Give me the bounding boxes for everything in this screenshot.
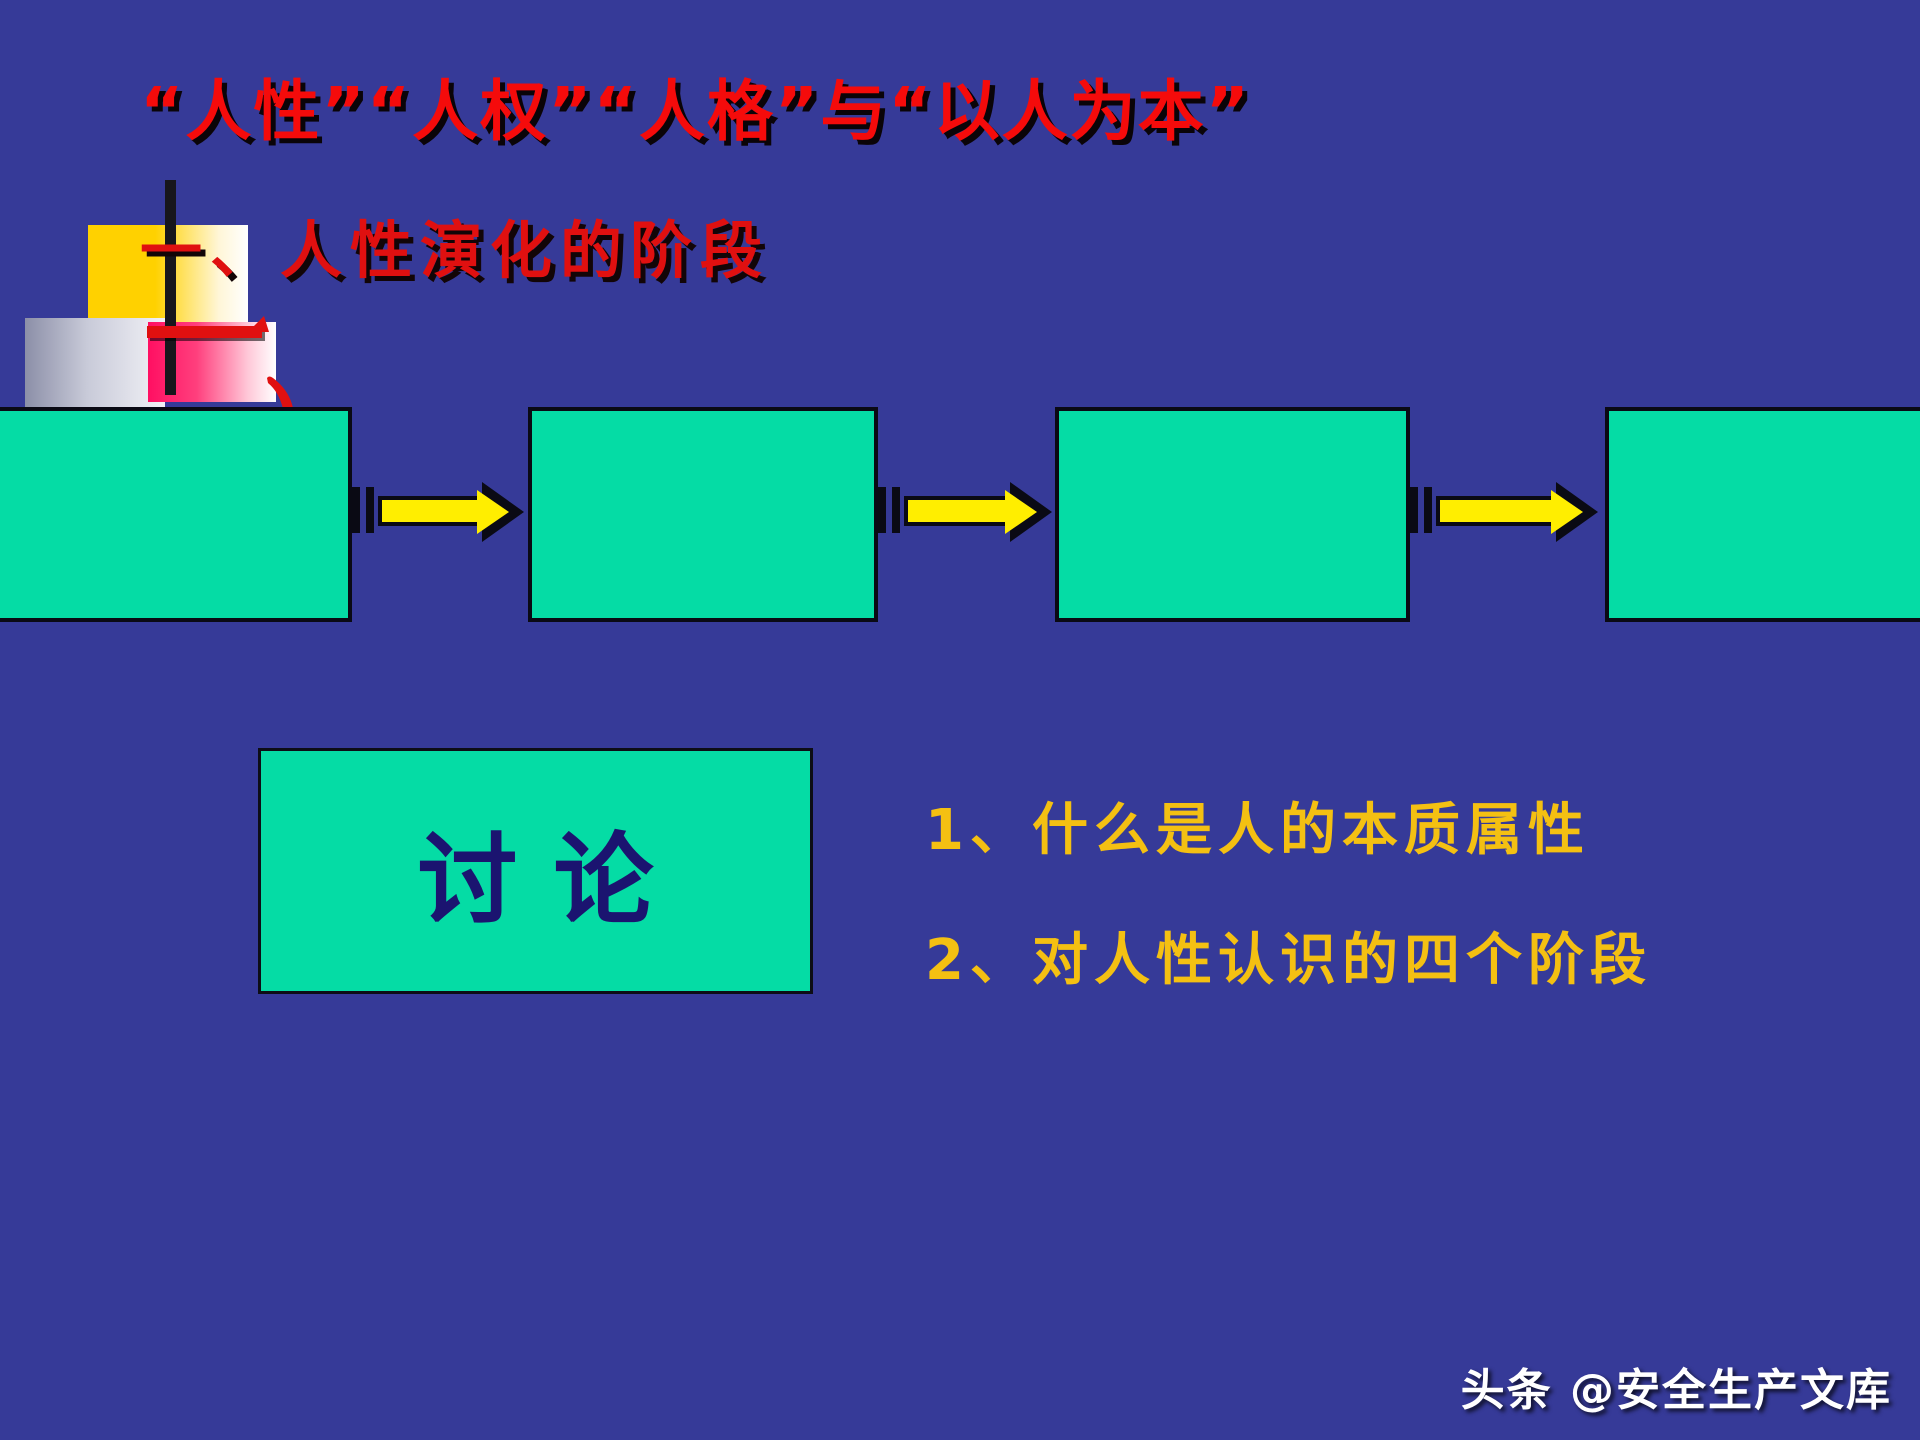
- arrow-tick-a1: [352, 487, 360, 533]
- discussion-label: 讨论: [382, 799, 690, 944]
- question-item-1: 1、什么是人的本质属性: [925, 785, 1590, 866]
- flow-box-2[interactable]: [528, 407, 878, 622]
- watermark: 头条 @安全生产文库: [1461, 1354, 1892, 1418]
- arrow-tick-c2: [1424, 487, 1432, 533]
- arrow-head-a: [482, 482, 524, 542]
- discussion-box[interactable]: 讨论: [258, 748, 813, 994]
- flow-arrow-2-icon: [878, 482, 1055, 542]
- flow-arrow-3-icon: [1410, 482, 1605, 542]
- deco-red-triangle-icon: [248, 316, 269, 332]
- arrow-head-c: [1556, 482, 1598, 542]
- slide-canvas: “人性”“人权”“人格”与“以人为本” 一、人性演化的阶段: [0, 0, 1920, 1440]
- arrow-shaft-c: [1436, 496, 1558, 526]
- arrow-tick-b1: [878, 487, 886, 533]
- stage-flow-diagram: [0, 407, 1920, 622]
- flow-arrow-1-icon: [352, 482, 528, 542]
- page-title: “人性”“人权”“人格”与“以人为本”: [140, 58, 1251, 154]
- question-item-2: 2、对人性认识的四个阶段: [925, 915, 1652, 996]
- flow-box-1[interactable]: [0, 407, 352, 622]
- arrow-tick-b2: [892, 487, 900, 533]
- flow-box-4[interactable]: [1605, 407, 1920, 622]
- deco-gray-square: [25, 318, 165, 410]
- arrow-tick-a2: [366, 487, 374, 533]
- arrow-shaft-b: [904, 496, 1014, 526]
- deco-red-bar: [147, 326, 262, 338]
- arrow-tick-c1: [1410, 487, 1418, 533]
- arrow-head-b: [1010, 482, 1052, 542]
- flow-box-3[interactable]: [1055, 407, 1410, 622]
- arrow-shaft-a: [378, 496, 486, 526]
- section-heading: 一、人性演化的阶段: [140, 200, 770, 290]
